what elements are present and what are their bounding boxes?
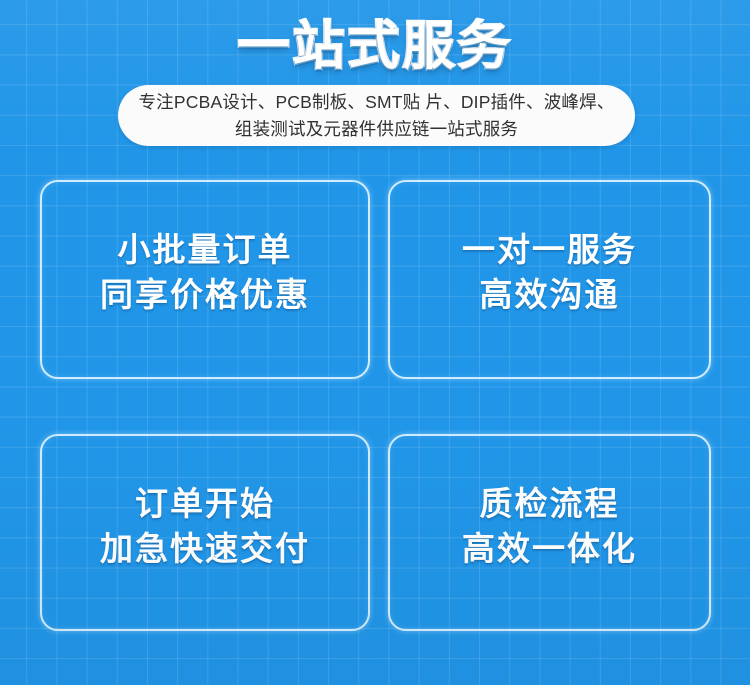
subtitle-line-1: 专注PCBA设计、PCB制板、SMT贴 片、DIP插件、波峰焊、 bbox=[138, 89, 614, 116]
feature-card-line-2: 加急快速交付 bbox=[100, 526, 310, 571]
feature-card-order-start-fast-delivery[interactable]: 订单开始 加急快速交付 bbox=[40, 434, 370, 631]
promo-poster: 一站式服务 专注PCBA设计、PCB制板、SMT贴 片、DIP插件、波峰焊、 组… bbox=[0, 0, 750, 685]
feature-card-line-1: 小批量订单 bbox=[118, 227, 293, 272]
feature-card-line-1: 质检流程 bbox=[480, 481, 620, 526]
feature-card-body: 质检流程 高效一体化 bbox=[462, 481, 637, 571]
page-title: 一站式服务 bbox=[0, 17, 750, 77]
feature-card-line-1: 订单开始 bbox=[135, 481, 275, 526]
feature-card-body: 小批量订单 同享价格优惠 bbox=[100, 227, 310, 317]
feature-card-line-2: 同享价格优惠 bbox=[100, 272, 310, 317]
feature-card-quality-inspection-process[interactable]: 质检流程 高效一体化 bbox=[388, 434, 711, 631]
feature-card-line-2: 高效沟通 bbox=[480, 272, 620, 317]
subtitle-pill: 专注PCBA设计、PCB制板、SMT贴 片、DIP插件、波峰焊、 组装测试及元器… bbox=[118, 85, 635, 146]
feature-card-body: 一对一服务 高效沟通 bbox=[462, 227, 637, 317]
feature-card-line-2: 高效一体化 bbox=[462, 526, 637, 571]
feature-card-body: 订单开始 加急快速交付 bbox=[100, 481, 310, 571]
feature-card-line-1: 一对一服务 bbox=[462, 227, 637, 272]
feature-card-small-batch-order[interactable]: 小批量订单 同享价格优惠 bbox=[40, 180, 370, 379]
feature-card-one-on-one-service[interactable]: 一对一服务 高效沟通 bbox=[388, 180, 711, 379]
subtitle-line-2: 组装测试及元器件供应链一站式服务 bbox=[235, 116, 518, 143]
